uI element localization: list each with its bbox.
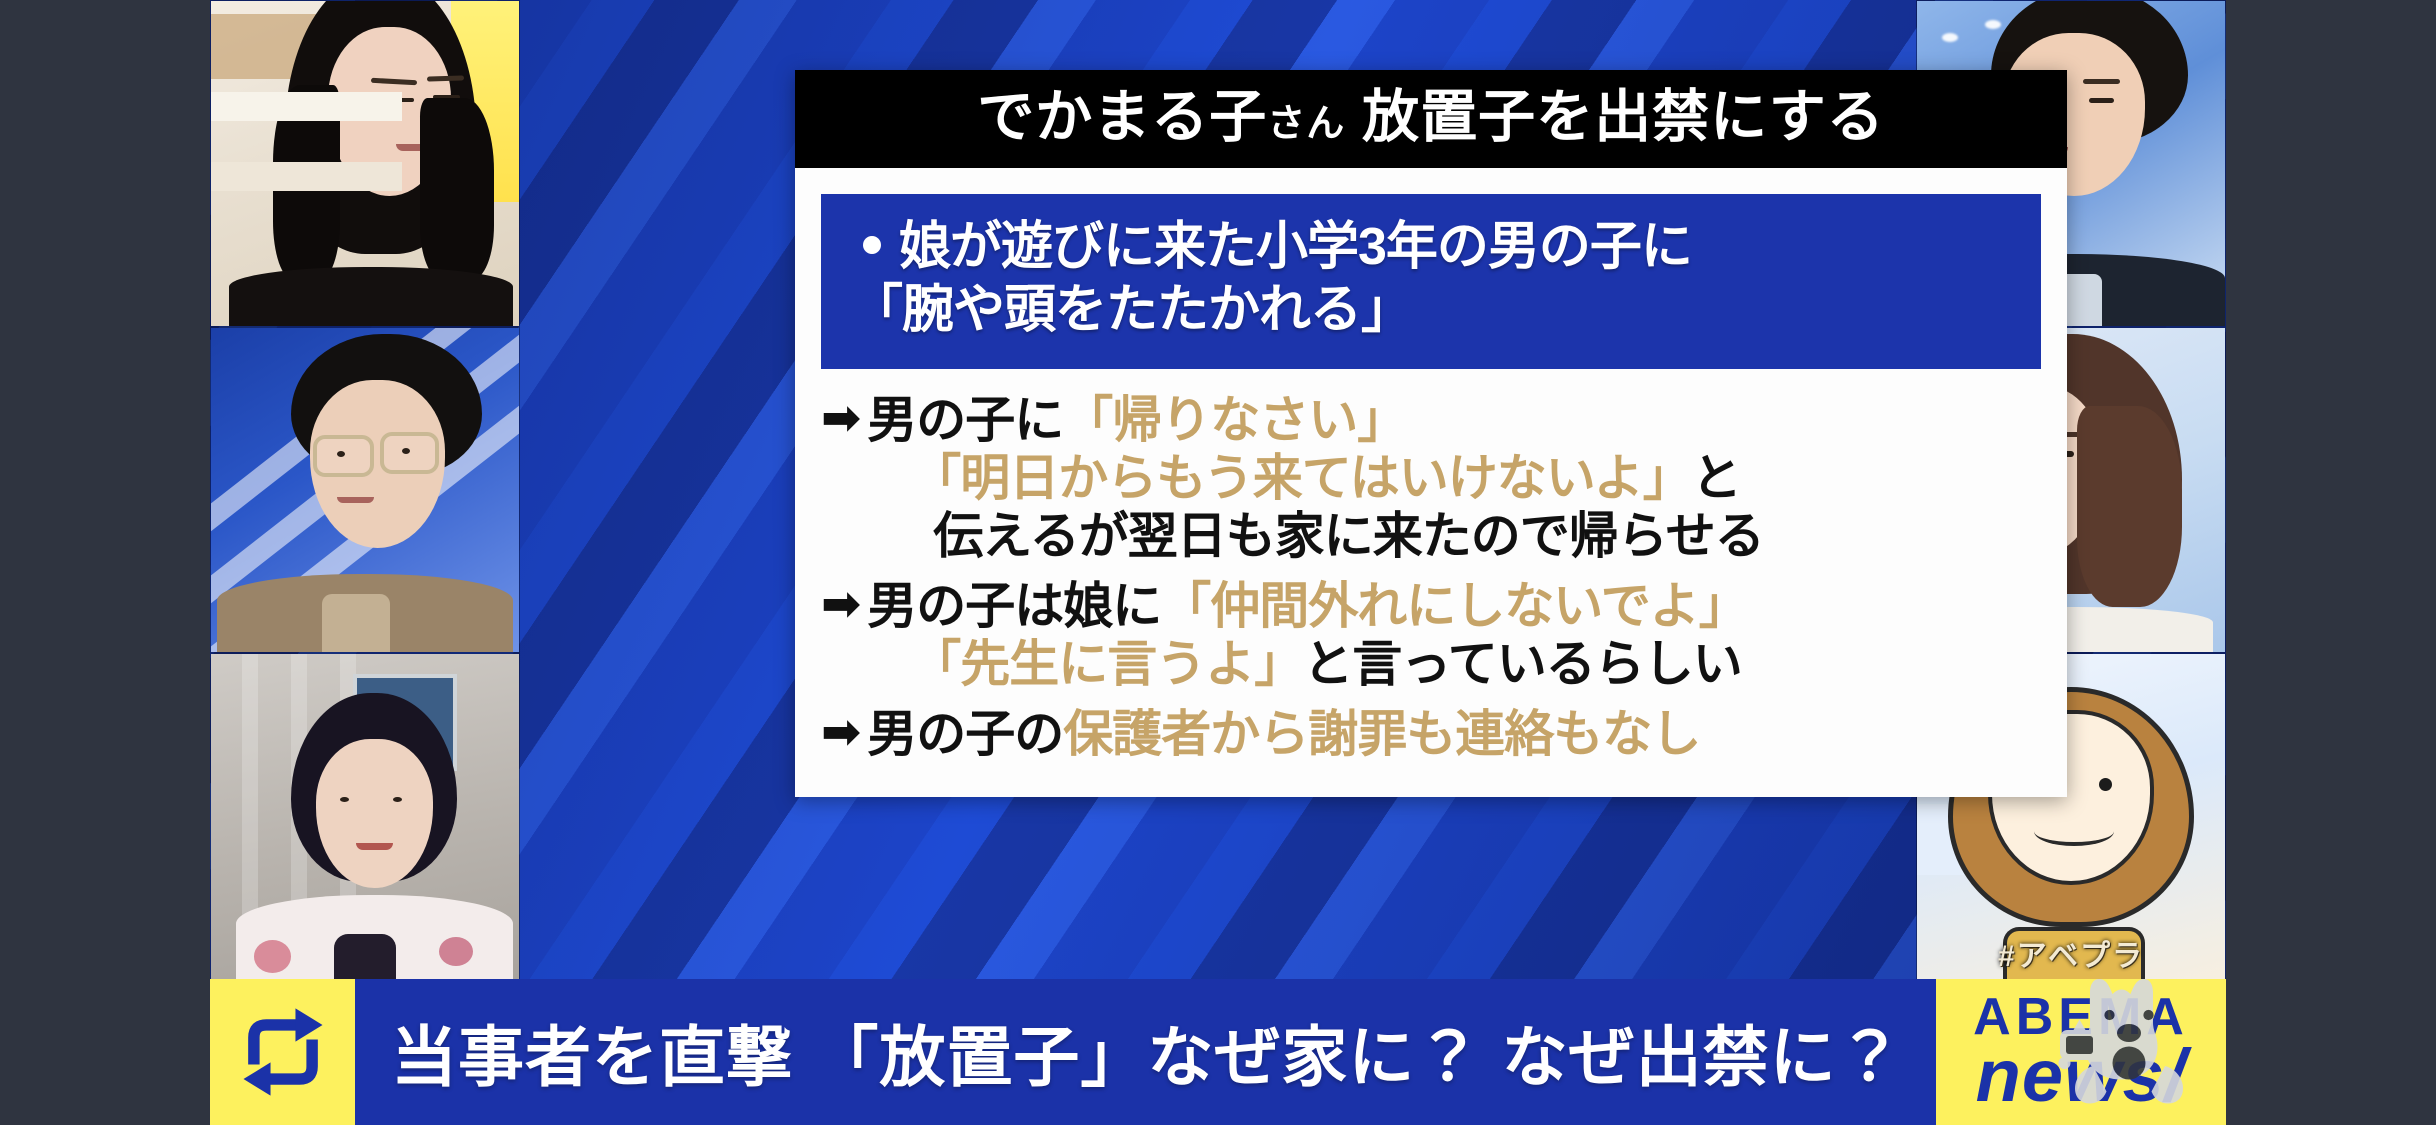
plain-text: 伝えるが翌日も家に来たので帰らせる xyxy=(933,508,1764,564)
quoted-text: 保護者から謝罪も連絡もなし xyxy=(1063,706,1700,762)
screenshot-root: #アベプラ でかまる子さん 放置子を出禁にする 娘が遊びに来た小学3年の男の子に… xyxy=(0,0,2436,1125)
quoted-text: 「仲間外れにしないでよ」 xyxy=(1161,578,1748,634)
right-gutter xyxy=(2226,0,2436,1125)
slate-title-honorific: さん xyxy=(1267,103,1345,145)
points-container: ➡男の子に「帰りなさい」「明日からもう来てはいけないよ」と伝えるが翌日も家に来た… xyxy=(821,391,2041,763)
arrow-point-3: ➡男の子の保護者から謝罪も連絡もなし xyxy=(821,705,2041,763)
panel-right-3-hashtag: #アベプラ xyxy=(1917,931,2225,975)
arrow-point-lines: 男の子の保護者から謝罪も連絡もなし xyxy=(867,705,2041,763)
panel-left-3[interactable] xyxy=(210,653,520,980)
quoted-text: 「明日からもう来てはいけないよ」 xyxy=(911,450,1692,506)
arrow-point-lines: 男の子は娘に「仲間外れにしないでよ」「先生に言うよ」と言っているらしい xyxy=(867,577,2041,693)
arrow-point-3-line-1: 男の子の保護者から謝罪も連絡もなし xyxy=(867,705,2041,763)
plain-text: と言っているらしい xyxy=(1303,636,1742,692)
arrow-point-1-line-2: 「明日からもう来てはいけないよ」と xyxy=(867,449,2041,507)
arrow-point-lines: 男の子に「帰りなさい」「明日からもう来てはいけないよ」と伝えるが翌日も家に来たの… xyxy=(867,391,2041,565)
news-ticker-banner: 当事者を直撃 「放置子」なぜ家に？ なぜ出禁に？ ABEMA news/ xyxy=(210,979,2226,1125)
left-participant-column xyxy=(210,0,520,980)
plain-text: と xyxy=(1692,450,1741,506)
slate-title-rest: 放置子を出禁にする xyxy=(1362,85,1885,149)
plain-text: 男の子は娘に xyxy=(867,578,1161,634)
slate-body: 娘が遊びに来た小学3年の男の子に 「腕や頭をたたかれる」 ➡男の子に「帰りなさい… xyxy=(795,168,2067,797)
arrow-right-icon: ➡ xyxy=(821,705,861,761)
quoted-text: 「帰りなさい」 xyxy=(1063,392,1406,448)
bullet-point-icon xyxy=(863,236,881,254)
left-gutter xyxy=(0,0,210,1125)
arrow-point-1-line-3: 伝えるが翌日も家に来たので帰らせる xyxy=(867,507,2041,565)
slate-title-main: でかまる子 xyxy=(977,85,1267,149)
arrow-point-2: ➡男の子は娘に「仲間外れにしないでよ」「先生に言うよ」と言っているらしい xyxy=(821,577,2041,693)
arrow-point-2-line-2: 「先生に言うよ」と言っているらしい xyxy=(867,635,2041,693)
highlight-box: 娘が遊びに来た小学3年の男の子に 「腕や頭をたたかれる」 xyxy=(821,194,2041,369)
arrow-right-icon: ➡ xyxy=(821,577,861,633)
slate-title-bar: でかまる子さん 放置子を出禁にする xyxy=(795,70,2067,168)
information-slate: でかまる子さん 放置子を出禁にする 娘が遊びに来た小学3年の男の子に 「腕や頭を… xyxy=(795,70,2067,797)
abema-dog-mascot-icon xyxy=(2054,973,2204,1111)
highlight-line-1: 娘が遊びに来た小学3年の男の子に xyxy=(851,216,2011,279)
quoted-text: 「先生に言うよ」 xyxy=(911,636,1303,692)
panel-left-2[interactable] xyxy=(210,327,520,654)
arrow-right-icon: ➡ xyxy=(821,391,861,447)
highlight-line-1-text: 娘が遊びに来た小学3年の男の子に xyxy=(899,218,1692,276)
arrow-point-1-line-1: 男の子に「帰りなさい」 xyxy=(867,391,2041,449)
recycle-arrows-icon xyxy=(210,979,355,1125)
arrow-point-2-line-1: 男の子は娘に「仲間外れにしないでよ」 xyxy=(867,577,2041,635)
video-stage: #アベプラ でかまる子さん 放置子を出禁にする 娘が遊びに来た小学3年の男の子に… xyxy=(210,0,2226,1125)
plain-text: 男の子の xyxy=(867,706,1063,762)
highlight-line-2: 「腕や頭をたたかれる」 xyxy=(851,279,2011,342)
plain-text: 男の子に xyxy=(867,392,1063,448)
banner-headline: 当事者を直撃 「放置子」なぜ家に？ なぜ出禁に？ xyxy=(355,979,1936,1125)
panel-left-1[interactable] xyxy=(210,0,520,327)
arrow-point-1: ➡男の子に「帰りなさい」「明日からもう来てはいけないよ」と伝えるが翌日も家に来た… xyxy=(821,391,2041,565)
